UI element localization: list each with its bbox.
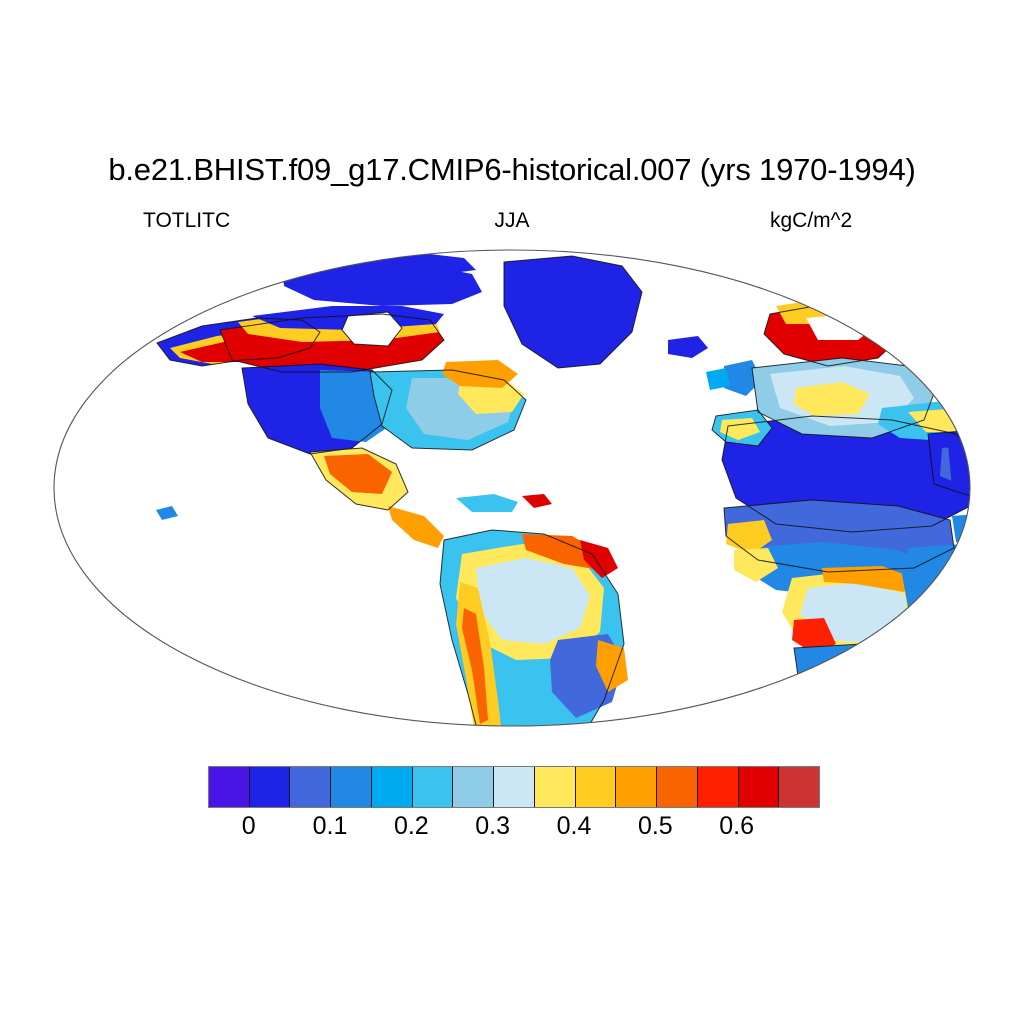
colorbar-swatch[interactable] — [453, 767, 494, 807]
world-map — [52, 248, 972, 728]
climate-map-figure: b.e21.BHIST.f09_g17.CMIP6-historical.007… — [0, 0, 1024, 1024]
figure-title: b.e21.BHIST.f09_g17.CMIP6-historical.007… — [0, 152, 1024, 188]
colorbar-swatch[interactable] — [535, 767, 576, 807]
colorbar-tick: 0.6 — [719, 812, 754, 841]
colorbar-swatch[interactable] — [494, 767, 535, 807]
colorbar-tick: 0 — [242, 812, 256, 841]
season-label: JJA — [0, 209, 1024, 233]
colorbar-swatch[interactable] — [290, 767, 331, 807]
colorbar-swatch[interactable] — [657, 767, 698, 807]
land-cell — [706, 368, 730, 390]
colorbar-swatch[interactable] — [698, 767, 739, 807]
units-label: kgC/m^2 — [770, 209, 852, 233]
colorbar-swatch[interactable] — [739, 767, 780, 807]
colorbar-swatch[interactable] — [779, 767, 819, 807]
colorbar-swatch[interactable] — [616, 767, 657, 807]
colorbar-tick: 0.1 — [313, 812, 348, 841]
colorbar-swatch[interactable] — [209, 767, 250, 807]
colorbar-tick: 0.4 — [557, 812, 592, 841]
colorbar-tick: 0.2 — [394, 812, 429, 841]
colorbar[interactable] — [208, 766, 820, 808]
colorbar-swatch[interactable] — [250, 767, 291, 807]
colorbar-tick-labels: 00.10.20.30.40.50.6 — [208, 812, 818, 846]
colorbar-swatch[interactable] — [331, 767, 372, 807]
colorbar-tick: 0.5 — [638, 812, 673, 841]
colorbar-swatch[interactable] — [576, 767, 617, 807]
colorbar-swatch[interactable] — [413, 767, 454, 807]
colorbar-tick: 0.3 — [475, 812, 510, 841]
colorbar-swatch[interactable] — [372, 767, 413, 807]
